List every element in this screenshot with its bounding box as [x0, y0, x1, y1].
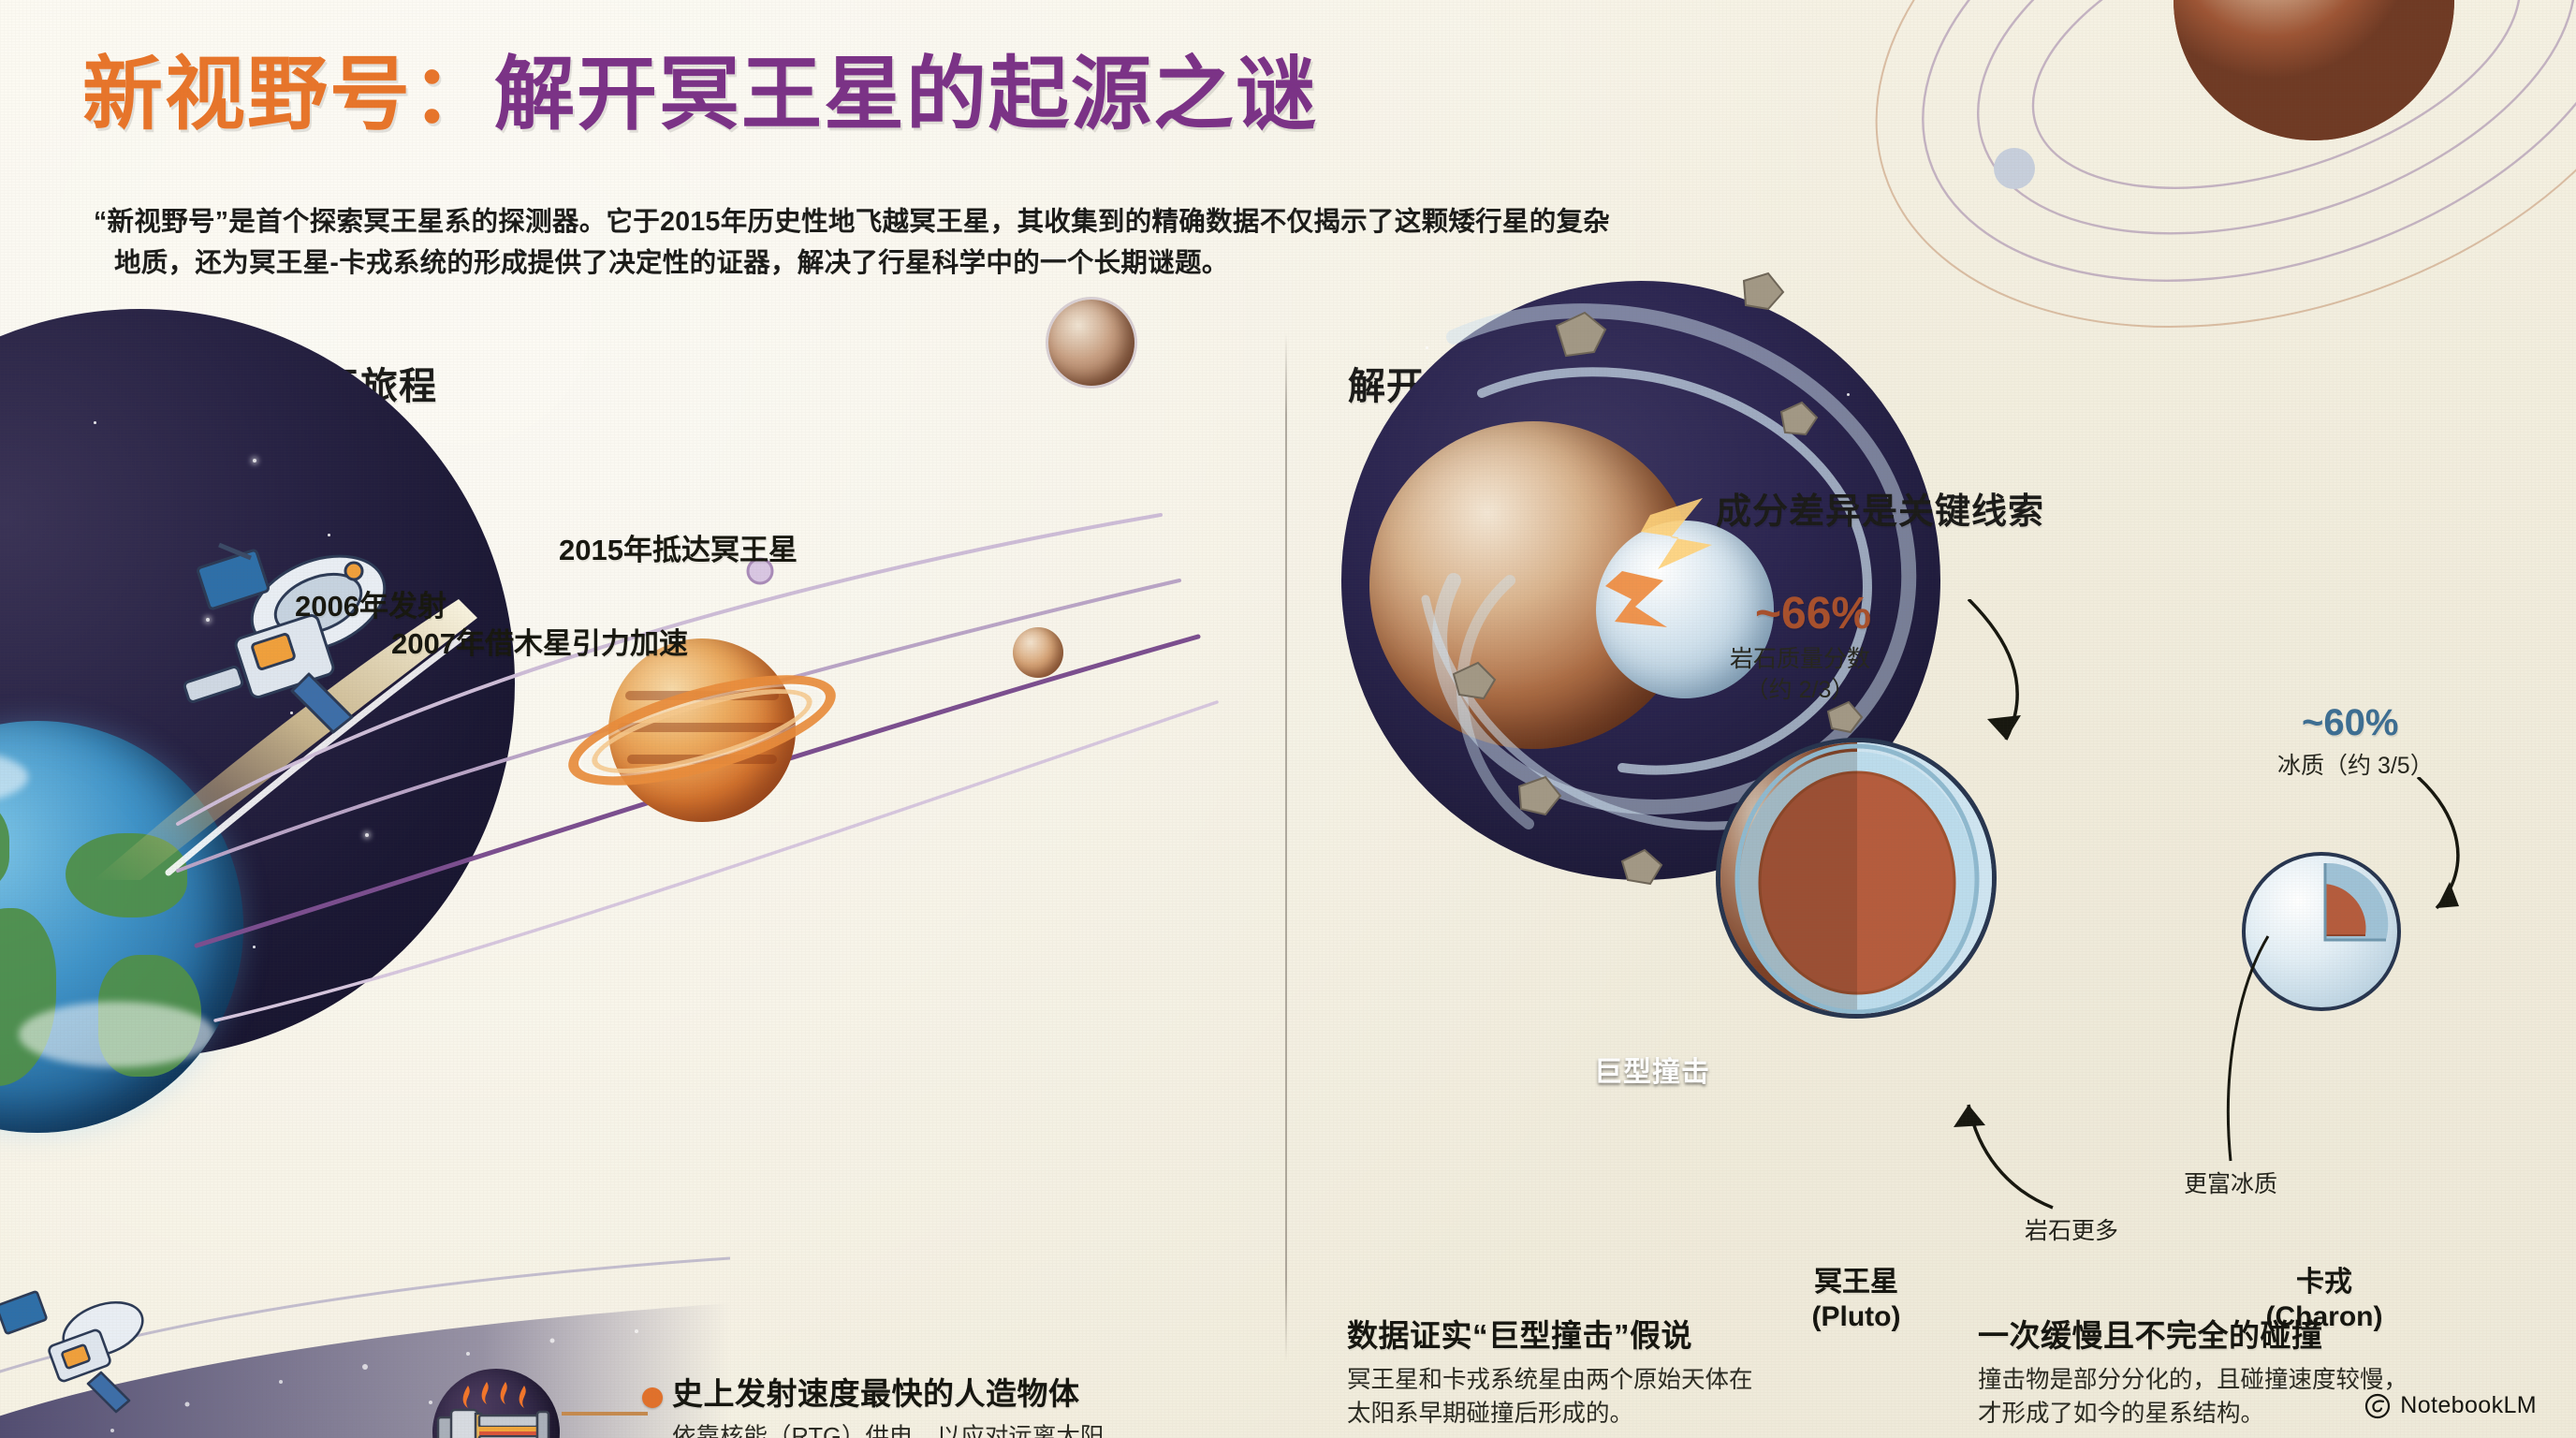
bullet-title: 史上发射速度最快的人造物体	[672, 1369, 1271, 1414]
block-body-line-2: 太阳系早期碰撞后形成的。	[1347, 1401, 1633, 1427]
kuiper-belt-illustration	[0, 1217, 730, 1438]
charon-cutaway-diagram	[2242, 852, 2401, 1011]
stat-sub-rock: 岩石质量分数 （约 2/3）	[1730, 644, 1870, 706]
composition-title: 成分差异是关键线索	[1716, 482, 2044, 534]
header: 新视野号：解开冥王星的起源之谜 “新视野号”是首个探索冥王星系的探测器。它于20…	[0, 0, 2576, 318]
bullet-body-line-1: 依靠核能（RTG）供电，以应对远离太阳	[672, 1424, 1104, 1438]
pluto-waypoint-dot	[1013, 627, 1063, 678]
title-secondary: 解开冥王星的起源之谜	[494, 50, 1318, 139]
pluto-arrival-body	[1048, 300, 1134, 386]
bullet-fastest-launch: 史上发射速度最快的人造物体 依靠核能（RTG）供电，以应对远离太阳 的极端深空环…	[672, 1369, 1271, 1438]
block-body-line-1: 撞击物是部分分化的，且碰撞速度较慢，	[1978, 1367, 2408, 1393]
rock-more-arrow	[1940, 1067, 2109, 1217]
note-ice-rich: 更富冰质	[2184, 1166, 2277, 1199]
title-primary: 新视野号：	[82, 50, 494, 139]
bullet-body: 依靠核能（RTG）供电，以应对远离太阳 的极端深空环境。	[672, 1420, 1271, 1438]
pluto-cutaway-diagram	[1716, 738, 1997, 1019]
block-title: 数据证实“巨型撞击”假说	[1347, 1311, 1909, 1356]
block-title: 一次缓慢且不完全的碰撞	[1978, 1311, 2539, 1356]
timeline-label-pluto-arrival: 2015年抵达冥王星	[559, 526, 798, 568]
footer-brand-label: NotebookLM	[2400, 1392, 2537, 1419]
origin-panel: 巨型撞击 成分差异是关键线索 ~66% 岩石质量分数 （约 2/3） ~60% …	[1285, 318, 2576, 1438]
block-giant-impact-hypothesis: 数据证实“巨型撞击”假说 冥王星和卡戎系统星由两个原始天体在 太阳系早期碰撞后形…	[1347, 1311, 1909, 1431]
stat-sub-line-1: 冰质（约 3/5）	[2277, 753, 2434, 779]
block-body-line-1: 冥王星和卡戎系统星由两个原始天体在	[1347, 1367, 1753, 1393]
block-body: 冥王星和卡戎系统星由两个原始天体在 太阳系早期碰撞后形成的。	[1347, 1363, 1909, 1431]
bullet-dot	[642, 1387, 663, 1408]
stat-value-rock: ~66%	[1755, 588, 1871, 639]
notebooklm-spiral-icon	[2364, 1393, 2391, 1419]
journey-panel: 2006年发射 2007年借木星引力加速 2015年抵达冥王星	[0, 318, 1285, 1438]
stat-value-ice: ~60%	[2302, 702, 2398, 744]
timeline-label-jupiter-assist: 2007年借木星引力加速	[391, 620, 688, 662]
label-pluto-cn: 冥王星	[1814, 1267, 1898, 1298]
timeline-label-launch: 2006年发射	[295, 582, 446, 624]
label-charon-cn: 卡戎	[2296, 1267, 2352, 1298]
stat-sub-line-2: （约 2/3）	[1746, 677, 1855, 703]
footer-brand: NotebookLM	[2364, 1392, 2537, 1419]
stat-sub-line-1: 岩石质量分数	[1730, 646, 1870, 672]
impact-label: 巨型撞击	[1594, 1049, 1710, 1090]
page-title: 新视野号：解开冥王星的起源之谜	[82, 54, 1318, 135]
stat-sub-ice: 冰质（约 3/5）	[2277, 751, 2434, 782]
note-rock-more: 岩石更多	[2025, 1212, 2118, 1246]
rtg-icon	[432, 1369, 560, 1438]
block-body-line-2: 才形成了如今的星系结构。	[1978, 1401, 2264, 1427]
